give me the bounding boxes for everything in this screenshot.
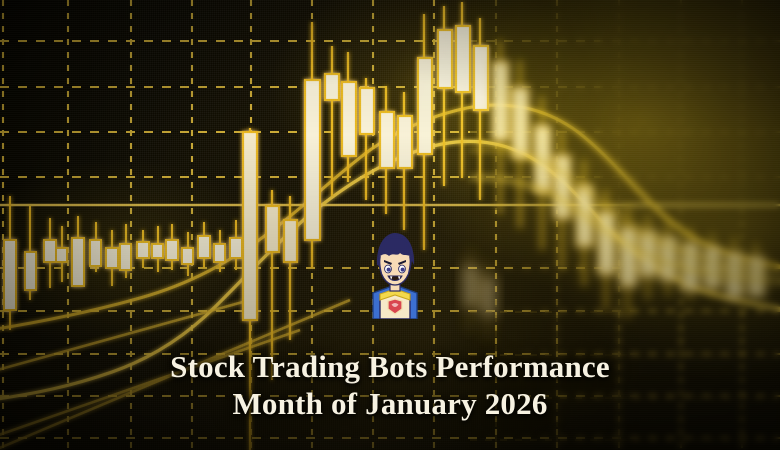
avatar-pupil-right [401,268,405,272]
avatar-pupil-left [387,268,391,272]
superhero-bot-avatar-icon [371,231,419,319]
chart-canvas [0,0,780,450]
stock-chart-banner: Stock Trading Bots Performance Month of … [0,0,780,450]
